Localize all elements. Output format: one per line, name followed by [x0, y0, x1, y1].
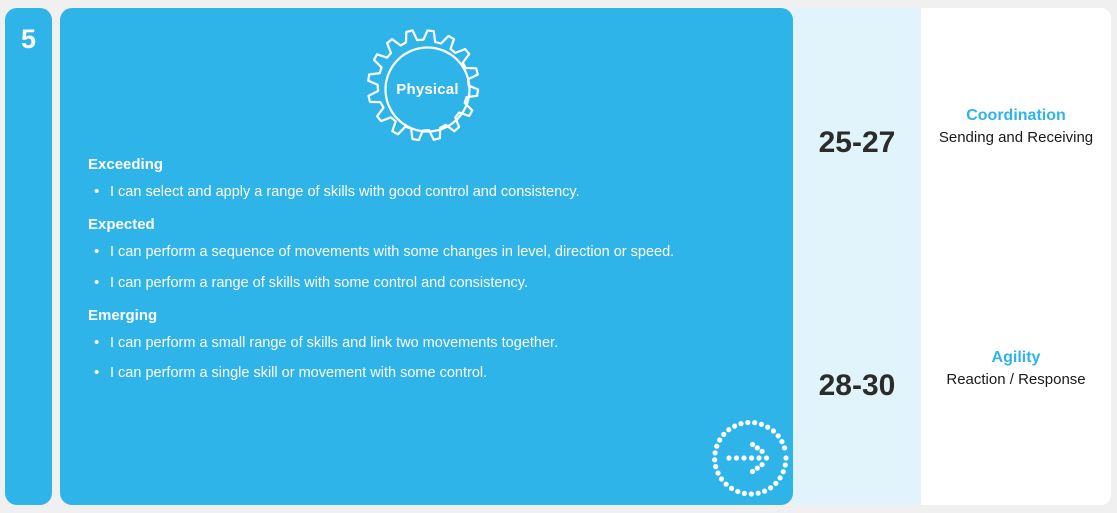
- criteria-group-expected: Expected I can perform a sequence of mov…: [88, 216, 778, 293]
- gear-icon: Physical: [365, 27, 490, 152]
- criteria-panel: Physical Exceeding I can select and appl…: [60, 8, 793, 505]
- criteria-item: I can perform a range of skills with som…: [88, 274, 778, 293]
- progression-card: 5 Physical Exceeding I can select and ap…: [0, 0, 1117, 513]
- strand-cell: Coordination Sending and Receiving: [921, 104, 1111, 149]
- strand-column: Coordination Sending and Receiving Agili…: [921, 8, 1111, 505]
- strand-cell: Agility Reaction / Response: [921, 346, 1111, 391]
- criteria-item: I can perform a sequence of movements wi…: [88, 243, 778, 262]
- age-range: 28-30: [793, 371, 921, 401]
- criteria-item: I can perform a small range of skills an…: [88, 334, 778, 353]
- criteria-item: I can perform a single skill or movement…: [88, 364, 778, 383]
- dotted-arrow-circle-icon: [707, 415, 793, 501]
- criteria-heading: Expected: [88, 216, 778, 234]
- gear-label: Physical: [365, 27, 490, 152]
- criteria-heading: Emerging: [88, 307, 778, 325]
- strand-title: Agility: [921, 346, 1111, 369]
- criteria-items: I can select and apply a range of skills…: [88, 183, 778, 202]
- criteria-group-exceeding: Exceeding I can select and apply a range…: [88, 156, 778, 202]
- criteria-heading: Exceeding: [88, 156, 778, 174]
- level-number: 5: [5, 26, 52, 53]
- strand-title: Coordination: [921, 104, 1111, 127]
- criteria-list-container: Exceeding I can select and apply a range…: [88, 156, 778, 397]
- age-range: 25-27: [793, 128, 921, 158]
- strand-subtitle: Sending and Receiving: [921, 127, 1111, 149]
- criteria-items: I can perform a sequence of movements wi…: [88, 243, 778, 293]
- criteria-group-emerging: Emerging I can perform a small range of …: [88, 307, 778, 384]
- criteria-items: I can perform a small range of skills an…: [88, 334, 778, 384]
- criteria-item: I can select and apply a range of skills…: [88, 183, 778, 202]
- level-tab[interactable]: 5: [5, 8, 52, 505]
- age-range-column: 25-27 28-30: [793, 8, 921, 505]
- strand-subtitle: Reaction / Response: [921, 369, 1111, 391]
